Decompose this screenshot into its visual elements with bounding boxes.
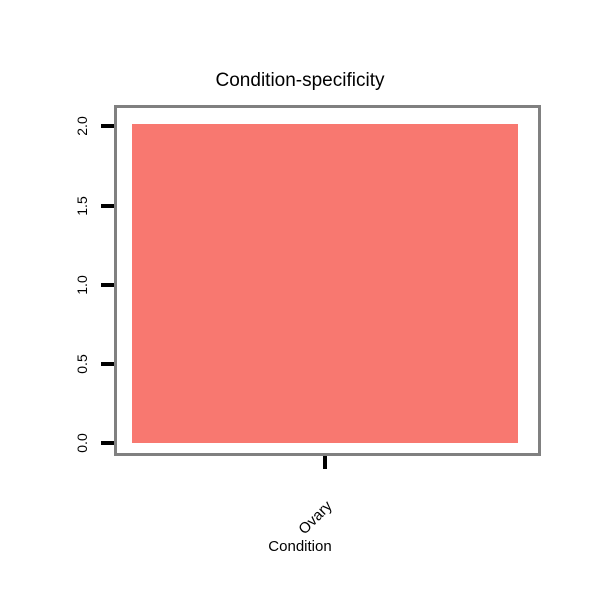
x-axis-title: Condition bbox=[0, 538, 600, 555]
bar-ovary[interactable] bbox=[132, 124, 518, 443]
plot-panel-inner bbox=[117, 108, 538, 453]
y-tick-label-4: 2.0 bbox=[75, 108, 89, 144]
y-tick-mark-3 bbox=[101, 204, 114, 208]
y-tick-mark-2 bbox=[101, 283, 114, 287]
plot-panel bbox=[114, 105, 541, 456]
y-tick-mark-0 bbox=[101, 441, 114, 445]
y-tick-label-0: 0.0 bbox=[75, 425, 89, 461]
y-tick-mark-4 bbox=[101, 124, 114, 128]
chart-title: Condition-specificity bbox=[0, 70, 600, 92]
y-tick-label-3: 1.5 bbox=[75, 188, 89, 224]
y-tick-label-1: 0.5 bbox=[75, 346, 89, 382]
x-tick-label-ovary: Ovary bbox=[268, 498, 336, 566]
chart-canvas: Condition-specificity Total Reads 0.0 0.… bbox=[0, 0, 600, 600]
x-tick-mark-0 bbox=[323, 456, 327, 469]
y-tick-mark-1 bbox=[101, 362, 114, 366]
y-tick-label-2: 1.0 bbox=[75, 267, 89, 303]
